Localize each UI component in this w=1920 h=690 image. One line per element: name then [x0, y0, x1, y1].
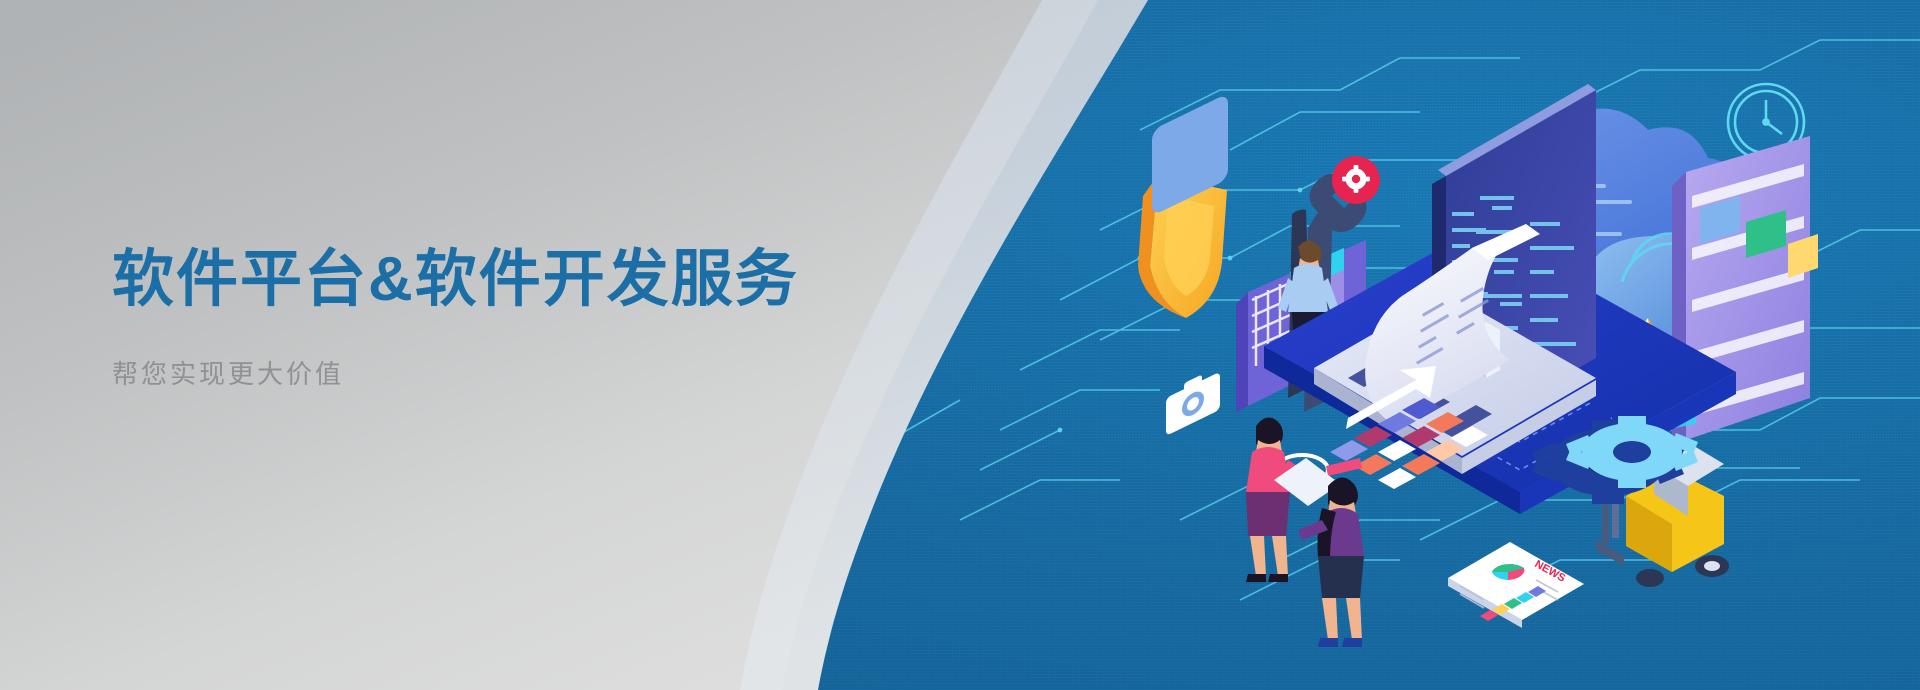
page-subtitle: 帮您实现更大价值: [112, 354, 932, 391]
hero-banner: NEWS: [0, 0, 1920, 690]
page-title: 软件平台&软件开发服务: [112, 246, 932, 314]
banner-copy: 软件平台&软件开发服务 帮您实现更大价值: [112, 246, 932, 391]
